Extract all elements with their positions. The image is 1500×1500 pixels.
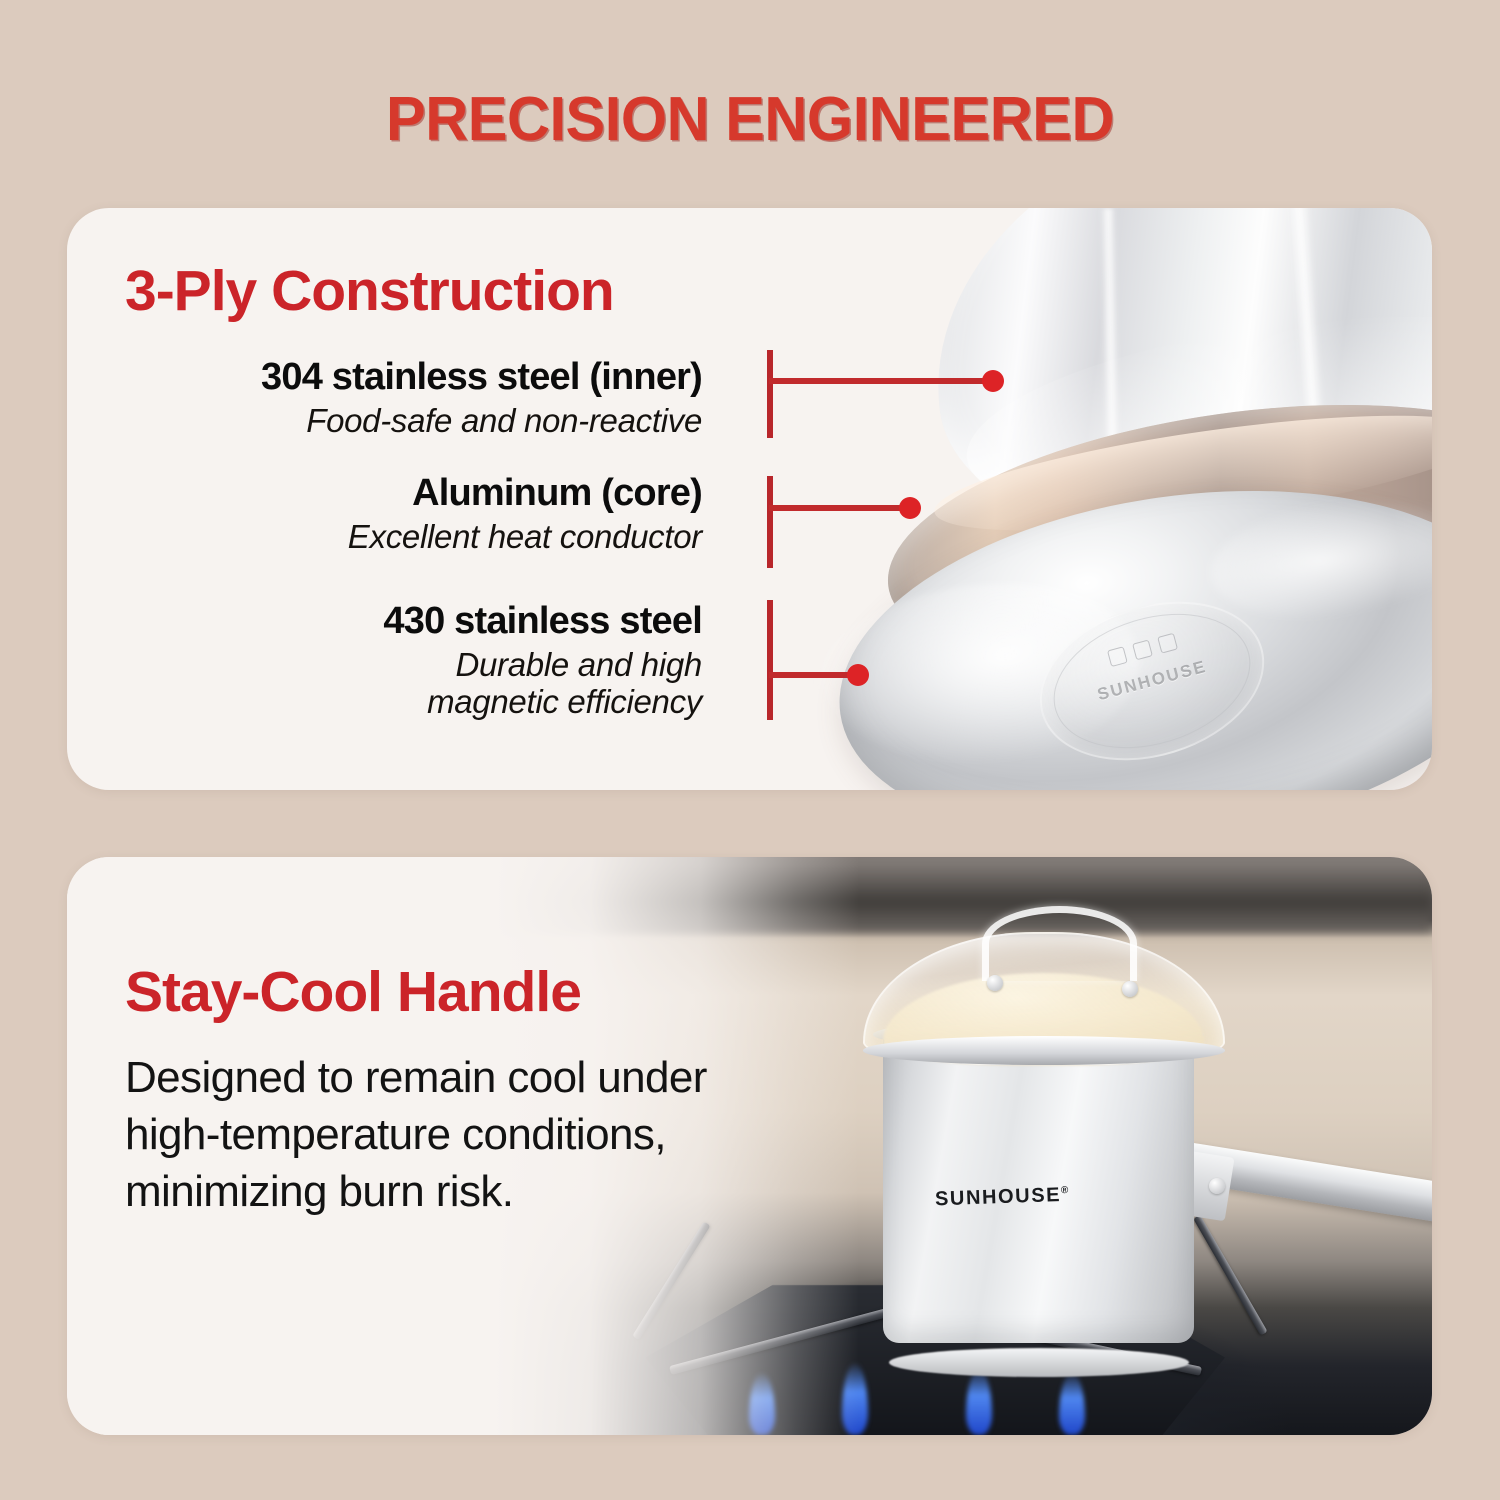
card-heading-stay-cool: Stay-Cool Handle (125, 959, 581, 1025)
leader-dot-icon (899, 497, 921, 519)
lid-handle (982, 906, 1137, 981)
layer-subtitle: Durable and high magnetic efficiency (82, 646, 702, 721)
page-title: PRECISION ENGINEERED (30, 84, 1470, 155)
layer-subtitle: Food-safe and non-reactive (82, 402, 702, 440)
card-stay-cool-handle: SUNHOUSE® Stay-Cool Handle Designed to r… (67, 857, 1432, 1435)
brand-registered-mark: ® (1061, 1185, 1070, 1196)
leader-dot-icon (847, 664, 869, 686)
layer-title: 430 stainless steel (82, 600, 702, 643)
layer-title: 304 stainless steel (inner) (82, 356, 702, 399)
layer-subtitle: Excellent heat conductor (82, 518, 702, 556)
card-body-stay-cool: Designed to remain cool under high-tempe… (125, 1049, 725, 1221)
card-heading-3-ply: 3-Ply Construction (125, 258, 614, 324)
layer-label-430: 430 stainless steel Durable and high mag… (82, 600, 702, 721)
card-3-ply-construction: SUNHOUSE 3-Ply Construction 304 stainles… (67, 208, 1432, 790)
layer-title: Aluminum (core) (82, 472, 702, 515)
tri-ply-pot-image: SUNHOUSE (687, 208, 1432, 790)
leader-dot-icon (982, 370, 1004, 392)
brand-text: SUNHOUSE (935, 1184, 1062, 1210)
layer-label-aluminum: Aluminum (core) Excellent heat conductor (82, 472, 702, 555)
layer-label-304: 304 stainless steel (inner) Food-safe an… (82, 356, 702, 439)
